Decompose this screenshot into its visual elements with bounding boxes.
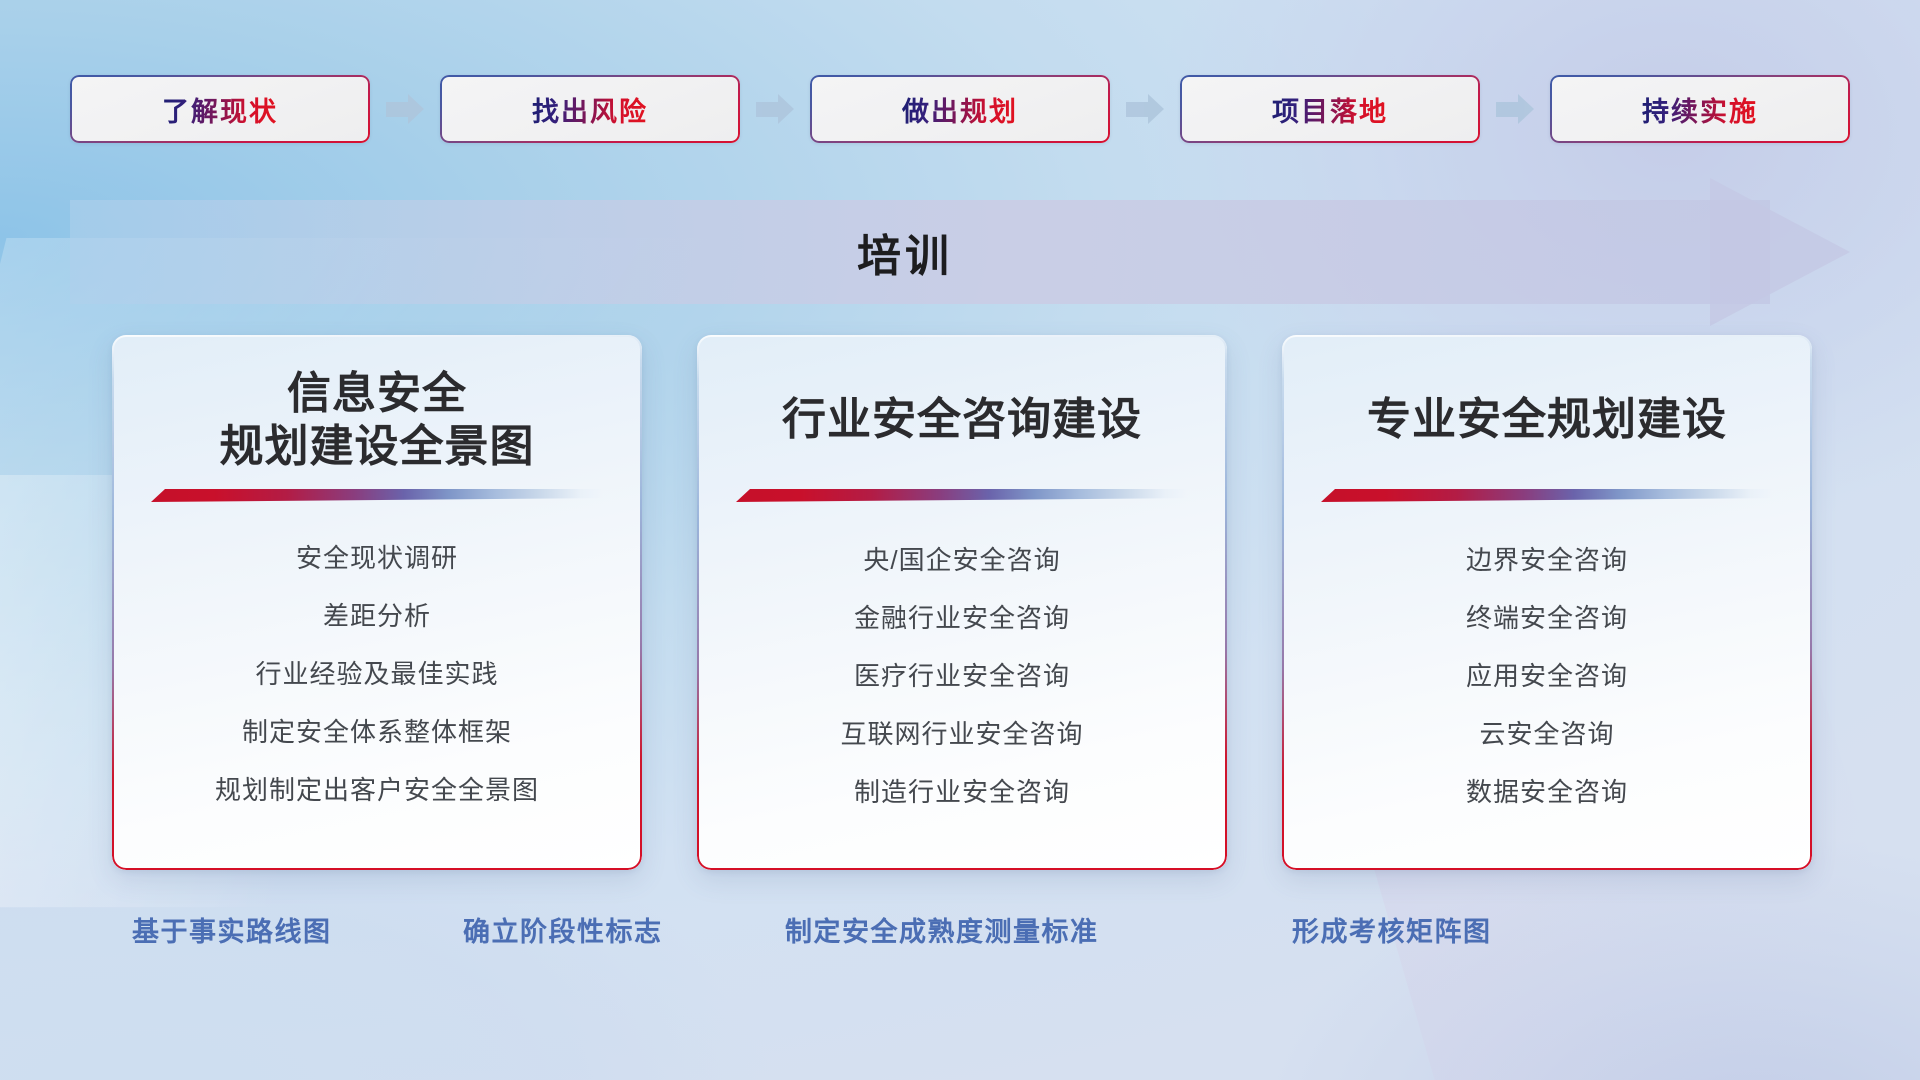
footnotes-row: 基于事实路线图 确立阶段性标志 制定安全成熟度测量标准 形成考核矩阵图 bbox=[0, 910, 1920, 964]
right-arrow-icon bbox=[756, 94, 794, 124]
card-list-1: 央/国企安全咨询 金融行业安全咨询 医疗行业安全咨询 互联网行业安全咨询 制造行… bbox=[840, 535, 1083, 817]
card-title-0-line2: 规划建设全景图 bbox=[220, 421, 535, 474]
footnote-0: 基于事实路线图 bbox=[132, 910, 332, 949]
list-item: 数据安全咨询 bbox=[1466, 767, 1628, 817]
list-item: 制定安全体系整体框架 bbox=[242, 707, 512, 757]
card-divider-1 bbox=[736, 489, 1188, 505]
list-item: 互联网行业安全咨询 bbox=[840, 709, 1083, 759]
list-item: 应用安全咨询 bbox=[1466, 651, 1628, 701]
card-divider-0 bbox=[151, 489, 603, 505]
card-title-1: 行业安全咨询建设 bbox=[782, 335, 1142, 463]
step-label-2: 做出规划 bbox=[902, 90, 1018, 129]
card-divider-2 bbox=[1321, 489, 1773, 505]
process-steps-row: 了解现状 找出风险 做出规划 项目落地 持续实施 bbox=[70, 75, 1850, 143]
card-information-security-panorama[interactable]: 信息安全 规划建设全景图 安全现状调研 差距分析 行业经验及最佳实践 制定安全体… bbox=[112, 335, 642, 870]
right-arrow-icon bbox=[386, 94, 424, 124]
card-title-0: 信息安全 规划建设全景图 bbox=[220, 335, 535, 463]
list-item: 规划制定出客户安全全景图 bbox=[215, 765, 539, 815]
card-list-0: 安全现状调研 差距分析 行业经验及最佳实践 制定安全体系整体框架 规划制定出客户… bbox=[215, 533, 539, 815]
card-title-2-line1: 专业安全规划建设 bbox=[1367, 394, 1727, 447]
step-label-1: 找出风险 bbox=[532, 90, 648, 129]
cards-row: 信息安全 规划建设全景图 安全现状调研 差距分析 行业经验及最佳实践 制定安全体… bbox=[112, 335, 1812, 870]
step-label-3: 项目落地 bbox=[1272, 90, 1388, 129]
list-item: 云安全咨询 bbox=[1479, 709, 1614, 759]
list-item: 差距分析 bbox=[323, 591, 431, 641]
list-item: 央/国企安全咨询 bbox=[863, 535, 1060, 585]
step-chip-0[interactable]: 了解现状 bbox=[70, 75, 370, 143]
card-title-2: 专业安全规划建设 bbox=[1367, 335, 1727, 463]
list-item: 医疗行业安全咨询 bbox=[854, 651, 1070, 701]
card-professional-security-planning[interactable]: 专业安全规划建设 边界安全咨询 终端安全咨询 应用安全咨询 云安全咨询 数据安全… bbox=[1282, 335, 1812, 870]
footnote-2: 制定安全成熟度测量标准 bbox=[785, 910, 1099, 949]
step-chip-1[interactable]: 找出风险 bbox=[440, 75, 740, 143]
right-arrow-icon bbox=[1496, 94, 1534, 124]
right-arrow-icon bbox=[1126, 94, 1164, 124]
list-item: 金融行业安全咨询 bbox=[854, 593, 1070, 643]
step-label-0: 了解现状 bbox=[162, 90, 278, 129]
footnote-3: 形成考核矩阵图 bbox=[1292, 910, 1492, 949]
card-industry-security-consulting[interactable]: 行业安全咨询建设 央/国企安全咨询 金融行业安全咨询 医疗行业安全咨询 互联网行… bbox=[697, 335, 1227, 870]
card-title-0-line1: 信息安全 bbox=[220, 368, 535, 421]
footnote-1: 确立阶段性标志 bbox=[463, 910, 663, 949]
list-item: 边界安全咨询 bbox=[1466, 535, 1628, 585]
list-item: 终端安全咨询 bbox=[1466, 593, 1628, 643]
banner-title: 培训 bbox=[70, 200, 1860, 304]
step-chip-4[interactable]: 持续实施 bbox=[1550, 75, 1850, 143]
list-item: 制造行业安全咨询 bbox=[854, 767, 1070, 817]
training-banner: 培训 bbox=[70, 200, 1860, 304]
step-label-4: 持续实施 bbox=[1642, 90, 1758, 129]
step-chip-3[interactable]: 项目落地 bbox=[1180, 75, 1480, 143]
card-list-2: 边界安全咨询 终端安全咨询 应用安全咨询 云安全咨询 数据安全咨询 bbox=[1466, 535, 1628, 817]
list-item: 安全现状调研 bbox=[296, 533, 458, 583]
list-item: 行业经验及最佳实践 bbox=[255, 649, 498, 699]
step-chip-2[interactable]: 做出规划 bbox=[810, 75, 1110, 143]
card-title-1-line1: 行业安全咨询建设 bbox=[782, 394, 1142, 447]
